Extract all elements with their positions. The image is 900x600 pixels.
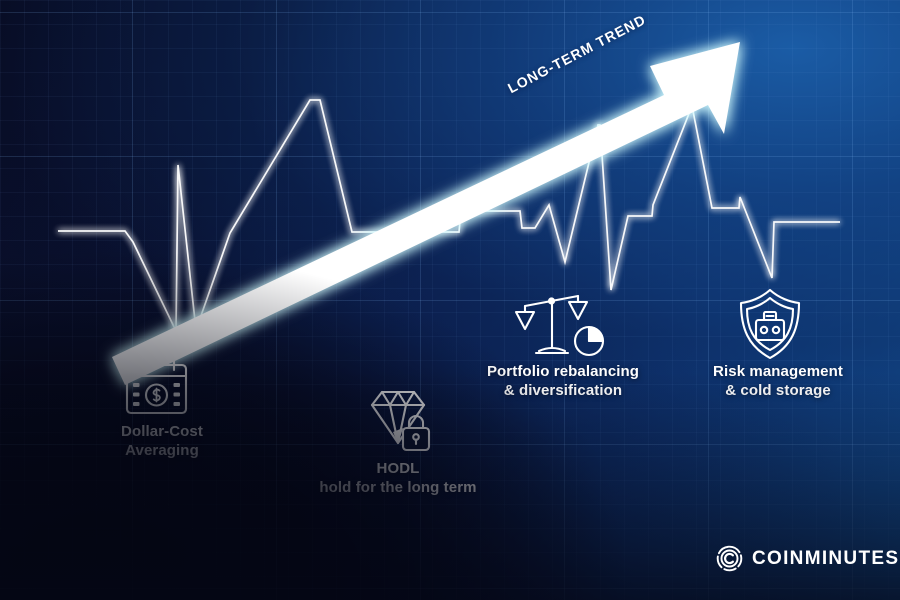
brand-name: COINMINUTES [752, 548, 899, 570]
step-label-dollar-cost-averaging: Dollar-Cost Averaging [52, 422, 272, 460]
step-label-line1: Dollar-Cost [121, 423, 203, 440]
step-label-line1: Risk management [713, 363, 843, 380]
step-label-line2: & cold storage [672, 381, 884, 400]
coinminutes-c-logo-icon [716, 545, 743, 572]
step-label-line2: & diversification [452, 381, 674, 400]
step-label-line2: Averaging [52, 441, 272, 460]
step-label-portfolio-rebalancing: Portfolio rebalancing & diversification [452, 362, 674, 400]
step-label-risk-management: Risk management & cold storage [672, 362, 884, 400]
step-label-line1: Portfolio rebalancing [487, 363, 639, 380]
step-label-line2: hold for the long term [288, 478, 508, 497]
shield-safe-icon [0, 0, 900, 600]
infographic-canvas: LONG-TERM TREND [0, 0, 900, 600]
step-label-hodl: HODL hold for the long term [288, 459, 508, 497]
brand-logo: COINMINUTES [716, 545, 899, 572]
step-label-line1: HODL [377, 460, 420, 477]
